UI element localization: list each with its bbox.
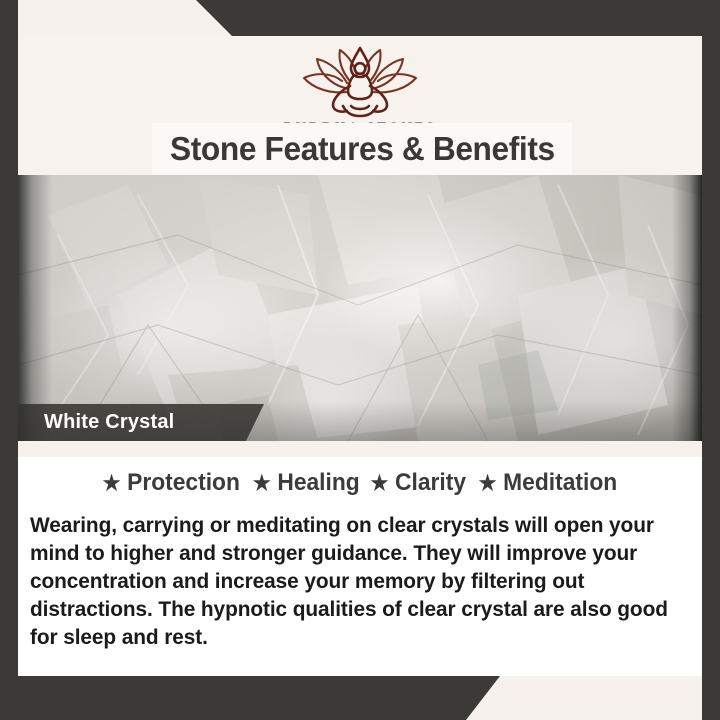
frame-top-band — [0, 0, 720, 36]
benefit-item-meditation: ★ Meditation — [479, 469, 618, 497]
stone-name-label: White Crystal — [18, 411, 174, 434]
star-icon: ★ — [103, 473, 121, 494]
frame-left-border — [0, 0, 18, 720]
stone-photo — [18, 175, 702, 441]
lotus-meditating-figure-icon — [285, 44, 435, 118]
page-title-box: Stone Features & Benefits — [152, 123, 572, 175]
stone-photo-vignette — [18, 175, 702, 441]
benefit-label: Clarity — [395, 469, 466, 497]
star-icon: ★ — [479, 473, 497, 494]
star-icon: ★ — [253, 473, 271, 494]
frame-right-border — [702, 0, 720, 720]
star-icon: ★ — [371, 473, 389, 494]
benefit-label: Protection — [127, 469, 240, 497]
benefit-label: Healing — [277, 469, 359, 497]
frame-bottom-band — [0, 676, 720, 720]
benefit-item-clarity: ★ Clarity — [371, 469, 467, 497]
benefit-item-protection: ★ Protection — [103, 469, 240, 497]
benefit-label: Meditation — [503, 469, 617, 497]
content-panel: ★ Protection ★ Healing ★ Clarity ★ Medit… — [18, 457, 702, 676]
benefits-list: ★ Protection ★ Healing ★ Clarity ★ Medit… — [18, 461, 702, 505]
description-text: Wearing, carrying or meditating on clear… — [30, 511, 670, 651]
page-title: Stone Features & Benefits — [170, 130, 555, 168]
infographic-card: BUDDHA STONES Stone Features & Benefits — [0, 0, 720, 720]
benefit-item-healing: ★ Healing — [253, 469, 360, 497]
cream-divider — [18, 441, 702, 457]
stone-name-badge: White Crystal — [18, 404, 264, 441]
